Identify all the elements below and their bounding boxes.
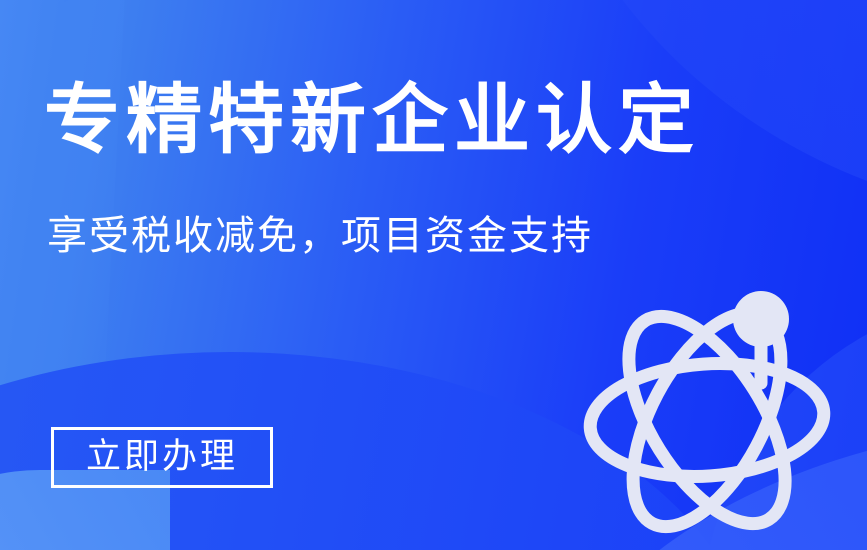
banner-subtitle: 享受税收减免，项目资金支持	[47, 216, 593, 256]
banner-content: 专精特新企业认定 享受税收减免，项目资金支持 立即办理	[0, 0, 867, 550]
apply-now-button[interactable]: 立即办理	[51, 427, 273, 488]
promo-banner: 专精特新企业认定 享受税收减免，项目资金支持 立即办理	[0, 0, 867, 550]
banner-title: 专精特新企业认定	[44, 82, 700, 158]
apply-now-button-label: 立即办理	[86, 440, 238, 475]
